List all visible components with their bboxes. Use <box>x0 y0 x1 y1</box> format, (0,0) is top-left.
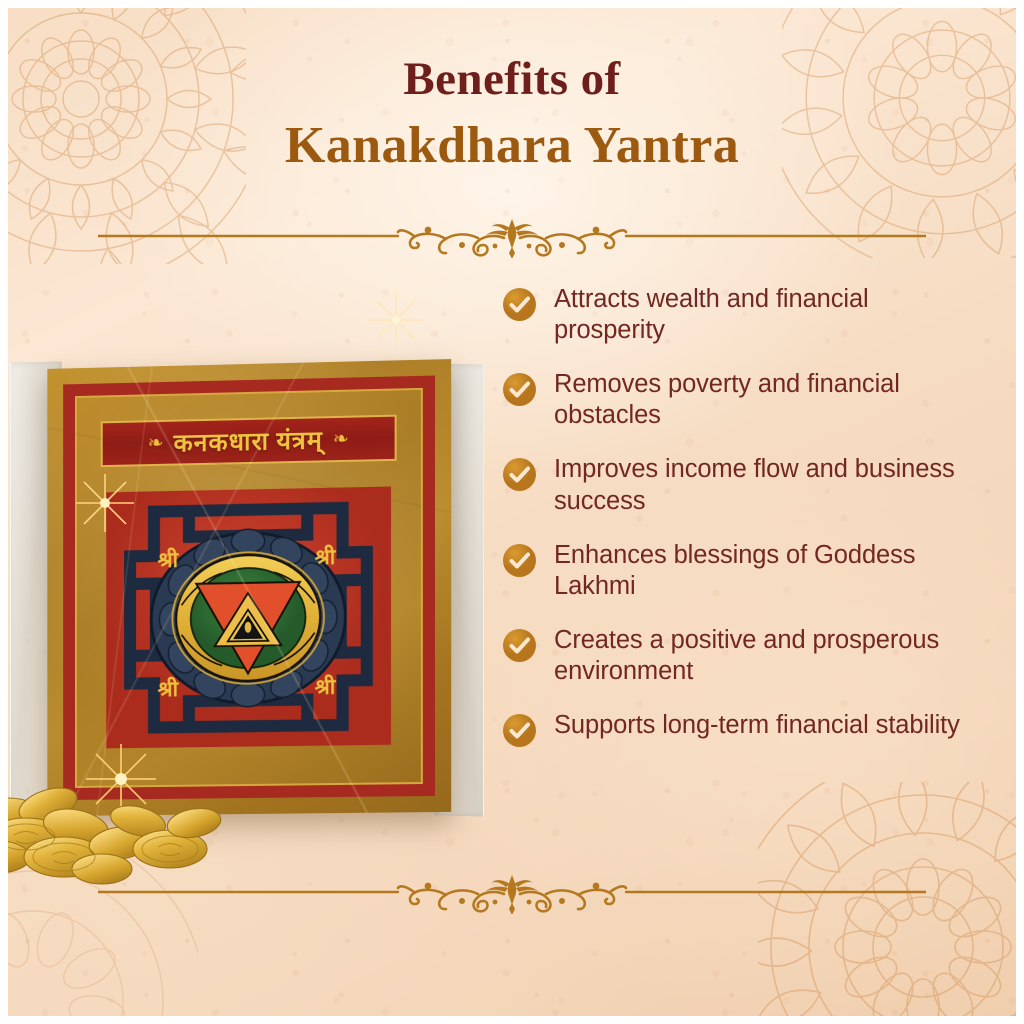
check-circle-icon <box>502 287 537 322</box>
yantra-diagram: श्री श्री श्री श्री <box>101 473 397 762</box>
banner-ornament-left-icon: ❧ <box>148 433 164 452</box>
list-item: Attracts wealth and financial prosperity <box>502 284 962 346</box>
sparkle-highlight-top <box>368 292 424 348</box>
check-circle-icon <box>502 372 537 407</box>
poster-canvas: Benefits of Kanakdhara Yantra <box>0 0 1024 1024</box>
list-item: Improves income flow and business succes… <box>502 454 962 516</box>
benefit-label: Improves income flow and business succes… <box>554 454 962 516</box>
banner-ornament-right-icon: ❧ <box>333 429 349 448</box>
check-circle-icon <box>502 713 537 748</box>
bija-mantra-top-right: श्री <box>315 544 337 570</box>
check-circle-icon <box>502 543 537 578</box>
list-item: Supports long-term financial stability <box>502 710 962 748</box>
page-title: Benefits of Kanakdhara Yantra <box>8 52 1016 180</box>
bija-mantra-bottom-right: श्री <box>315 673 337 698</box>
plate-red-border: ❧ कनकधारा यंत्रम् ❧ <box>63 376 435 801</box>
bija-mantra-bottom-left: श्री <box>158 676 180 701</box>
title-line-primary: Benefits of <box>8 52 1016 107</box>
benefit-label: Enhances blessings of Goddess Lakhmi <box>554 540 962 602</box>
benefit-label: Attracts wealth and financial prosperity <box>554 284 962 346</box>
yantra-sanskrit-banner: ❧ कनकधारा यंत्रम् ❧ <box>101 415 397 468</box>
benefits-list: Attracts wealth and financial prosperity… <box>502 284 962 771</box>
benefit-label: Creates a positive and prosperous enviro… <box>554 625 962 687</box>
poster-background: Benefits of Kanakdhara Yantra <box>8 8 1016 1016</box>
check-circle-icon <box>502 628 537 663</box>
benefit-label: Removes poverty and financial obstacles <box>554 369 962 431</box>
ornament-divider-top <box>98 214 926 258</box>
list-item: Creates a positive and prosperous enviro… <box>502 625 962 687</box>
bija-mantra-top-left: श्री <box>158 546 180 571</box>
title-line-secondary: Kanakdhara Yantra <box>8 112 1016 180</box>
yantra-sanskrit-title: कनकधारा यंत्रम् <box>174 422 323 459</box>
check-circle-icon <box>502 457 537 492</box>
list-item: Enhances blessings of Goddess Lakhmi <box>502 540 962 602</box>
ornament-divider-bottom <box>98 870 926 914</box>
benefit-label: Supports long-term financial stability <box>554 710 960 741</box>
yantra-product-photo: ❧ कनकधारा यंत्रम् ❧ <box>8 334 508 879</box>
kanakdhara-yantra-plate: ❧ कनकधारा यंत्रम् ❧ <box>47 359 451 816</box>
list-item: Removes poverty and financial obstacles <box>502 369 962 431</box>
